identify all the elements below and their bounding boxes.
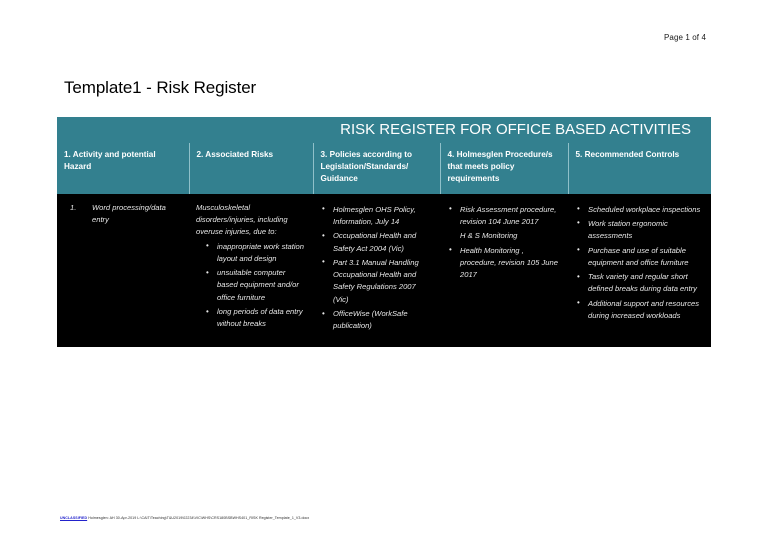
risks-list: inappropriate work station layout and de… — [204, 241, 306, 331]
list-item: Work station ergonomic assessments — [575, 218, 704, 243]
cell-controls: Scheduled workplace inspections Work sta… — [568, 194, 711, 347]
list-item: Purchase and use of suitable equipment a… — [575, 245, 704, 270]
document-footer: UNCLASSIFIED Holmesglen: AH 30-Apr-2019 … — [60, 516, 309, 520]
policies-list: Holmesglen OHS Policy, Information, July… — [320, 204, 433, 333]
column-header-activity: 1. Activity and potential Hazard — [57, 143, 189, 194]
footer-path-text: Holmesglen: AH 30-Apr-2019 L:\CAIT\Teach… — [88, 516, 309, 520]
list-item: Holmesglen OHS Policy, Information, July… — [320, 204, 433, 229]
risk-register-banner: RISK REGISTER FOR OFFICE BASED ACTIVITIE… — [57, 117, 711, 143]
list-item: Additional support and resources during … — [575, 298, 704, 323]
column-header-procedures: 4. Holmesglen Procedure/s that meets pol… — [440, 143, 568, 194]
row-number: 1. — [64, 202, 86, 227]
risks-lead-text: Musculoskeletal disorders/injuries, incl… — [196, 202, 306, 239]
classification-marking: UNCLASSIFIED — [60, 516, 87, 520]
activity-text: Word processing/data entry — [92, 202, 182, 227]
list-item: OfficeWise (WorkSafe publication) — [320, 308, 433, 333]
page-number: Page 1 of 4 — [664, 33, 706, 42]
list-item: H & S Monitoring — [447, 230, 561, 242]
risk-register-table: 1. Activity and potential Hazard 2. Asso… — [57, 143, 711, 347]
list-item: inappropriate work station layout and de… — [204, 241, 306, 266]
cell-procedures: Risk Assessment procedure, revision 104 … — [440, 194, 568, 347]
list-item: Occupational Health and Safety Act 2004 … — [320, 230, 433, 255]
cell-activity: 1. Word processing/data entry — [57, 194, 189, 347]
document-page: Page 1 of 4 Template1 - Risk Register RI… — [0, 0, 768, 543]
controls-list: Scheduled workplace inspections Work sta… — [575, 204, 704, 323]
list-item: unsuitable computer based equipment and/… — [204, 267, 306, 304]
list-item: Part 3.1 Manual Handling Occupational He… — [320, 257, 433, 306]
page-title: Template1 - Risk Register — [64, 78, 256, 98]
list-item: long periods of data entry without break… — [204, 306, 306, 331]
table-header-row: 1. Activity and potential Hazard 2. Asso… — [57, 143, 711, 194]
list-item: Scheduled workplace inspections — [575, 204, 704, 216]
list-item: Health Monitoring , procedure, revision … — [447, 245, 561, 282]
list-item: Risk Assessment procedure, revision 104 … — [447, 204, 561, 229]
cell-policies: Holmesglen OHS Policy, Information, July… — [313, 194, 440, 347]
column-header-risks: 2. Associated Risks — [189, 143, 313, 194]
procedures-list: Risk Assessment procedure, revision 104 … — [447, 204, 561, 282]
cell-associated-risks: Musculoskeletal disorders/injuries, incl… — [189, 194, 313, 347]
risk-register-table-wrapper: RISK REGISTER FOR OFFICE BASED ACTIVITIE… — [57, 117, 711, 347]
list-item: Task variety and regular short defined b… — [575, 271, 704, 296]
column-header-policies: 3. Policies according to Legislation/Sta… — [313, 143, 440, 194]
column-header-controls: 5. Recommended Controls — [568, 143, 711, 194]
table-row: 1. Word processing/data entry Musculoske… — [57, 194, 711, 347]
